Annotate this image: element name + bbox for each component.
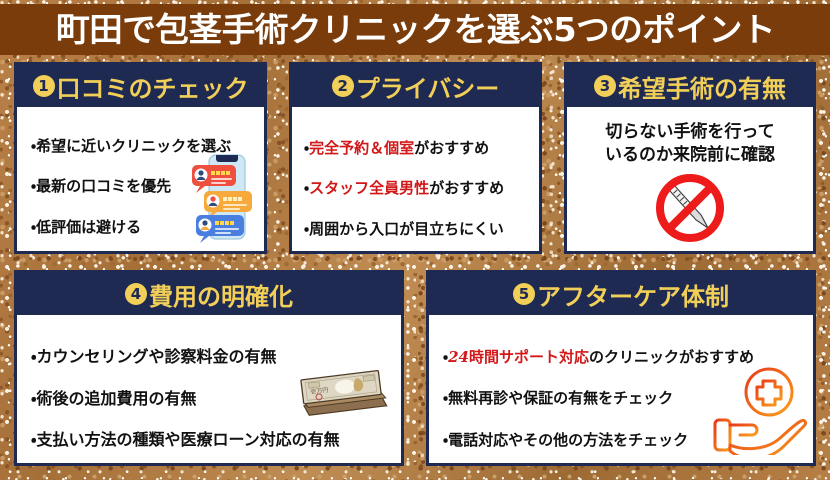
list-item: 電話対応やその他の方法をチェック [443,432,813,449]
list-item: 周囲から入口が目立ちにくい [304,221,539,238]
poster-title-band: 町田で包茎手術クリニックを選ぶ5つのポイント [0,4,830,55]
card-2-bullet-list: 完全予約＆個室がおすすめ スタッフ全員男性がおすすめ 周囲から入口が目立ちにくい [292,107,539,251]
no-scalpel-icon [653,171,727,249]
card-2-number-badge: 2 [332,75,354,97]
card-3-header: 3 希望手術の有無 [567,65,813,107]
card-1-bullet-list: 希望に近いクリニックを選ぶ 最新の口コミを優先 低評価は避ける [17,107,264,251]
card-4-header: 4 費用の明確化 [17,273,401,315]
card-4-bullet-list: カウンセリングや診察料金の有無 術後の追加費用の有無 支払い方法の種類や医療ロー… [17,315,401,463]
card-2-body: 完全予約＆個室がおすすめ スタッフ全員男性がおすすめ 周囲から入口が目立ちにくい [292,107,539,251]
card-2-header: 2 プライバシー [292,65,539,107]
card-4-body: 壱万円 カウンセリングや診察料金の有無 術後の追加費用の有無 支払い方法の種類や… [17,315,401,463]
list-item: 希望に近いクリニックを選ぶ [31,138,264,155]
list-item: 低評価は避ける [31,219,264,236]
list-item: 完全予約＆個室がおすすめ [304,140,539,157]
point-card-1: 1 口コミのチェック [14,62,267,254]
list-item: 無料再診や保証の有無をチェック [443,390,813,407]
point-card-5: 5 アフターケア体制 [426,270,816,466]
point-card-3: 3 希望手術の有無 切らない手術を行って いるのか来院前に確認 [564,62,816,254]
card-1-heading: 口コミのチェック [57,69,249,104]
card-3-paragraph: 切らない手術を行って いるのか来院前に確認 [567,107,813,167]
list-item: 最新の口コミを優先 [31,178,264,195]
card-1-header: 1 口コミのチェック [17,65,264,107]
card-4-heading: 費用の明確化 [149,277,293,312]
card-4-number-badge: 4 [125,283,147,305]
card-3-heading: 希望手術の有無 [618,69,786,104]
card-5-header: 5 アフターケア体制 [429,273,813,315]
infographic-poster: 町田で包茎手術クリニックを選ぶ5つのポイント 1 口コミのチェック [0,0,830,480]
page-title: 町田で包茎手術クリニックを選ぶ5つのポイント [55,13,774,46]
card-5-heading: アフターケア体制 [537,277,729,312]
card-3-body: 切らない手術を行って いるのか来院前に確認 [567,107,813,251]
card-5-body: 24時間サポート対応のクリニックがおすすめ 無料再診や保証の有無をチェック 電話… [429,315,813,463]
card-5-bullet-list: 24時間サポート対応のクリニックがおすすめ 無料再診や保証の有無をチェック 電話… [429,315,813,463]
list-item: カウンセリングや診察料金の有無 [31,348,401,366]
card-5-number-badge: 5 [513,283,535,305]
card-2-heading: プライバシー [356,69,500,104]
point-card-4: 4 費用の明確化 壱万円 [14,270,404,466]
list-item: 支払い方法の種類や医療ローン対応の有無 [31,431,401,449]
list-item: 術後の追加費用の有無 [31,390,401,408]
list-item: 24時間サポート対応のクリニックがおすすめ [443,349,813,366]
card-3-number-badge: 3 [594,75,616,97]
list-item: スタッフ全員男性がおすすめ [304,180,539,197]
point-card-2: 2 プライバシー 完全予約＆個室がおすすめ スタッフ全員男性がおすすめ 周囲から… [289,62,542,254]
card-1-number-badge: 1 [33,75,55,97]
card-1-body: 希望に近いクリニックを選ぶ 最新の口コミを優先 低評価は避ける [17,107,264,251]
